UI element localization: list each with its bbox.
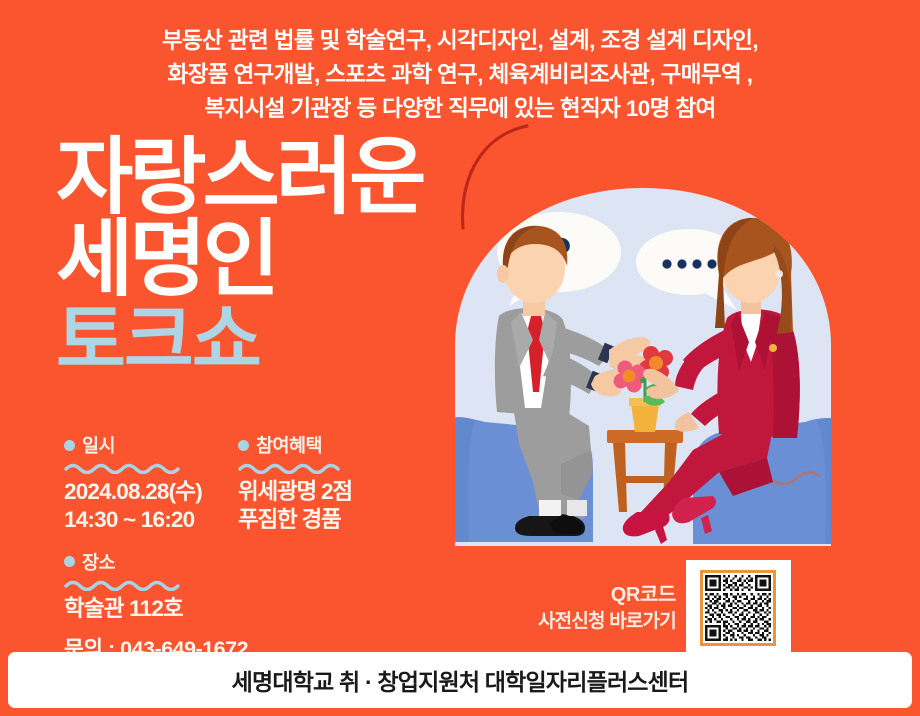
place-value: 학술관 112호 [64,595,239,623]
header-description: 부동산 관련 법률 및 학술연구, 시각디자인, 설계, 조경 설계 디자인, … [0,24,920,127]
footer-bar: 세명대학교 취 · 창업지원처 대학일자리플러스센터 [8,652,912,708]
benefit-label: 참여혜택 [256,432,322,458]
flower-pink [614,361,646,393]
info-group-benefit: 참여혜택 위세광명 2점 푸짐한 경품 [238,432,403,535]
qr-block[interactable]: QR코드 사전신청 바로가기 [538,560,791,656]
benefit-value-1: 위세광명 2점 [238,478,403,506]
qr-card[interactable] [686,560,791,656]
wavy-underline-icon [238,461,348,474]
bullet-dot-icon [238,440,249,451]
datetime-time: 14:30 ~ 16:20 [64,506,239,534]
qr-caption-line-1: QR코드 [538,582,676,609]
datetime-label: 일시 [82,432,115,458]
page-title: 자랑스러운 세명인 토크쇼 [56,138,422,377]
info-column-right: 참여혜택 위세광명 2점 푸짐한 경품 [238,432,403,535]
wavy-underline-icon [64,461,188,474]
benefit-value-2: 푸짐한 경품 [238,506,403,534]
bullet-dot-icon [64,556,75,567]
footer-text: 세명대학교 취 · 창업지원처 대학일자리플러스센터 [232,663,689,697]
qr-caption-line-2: 사전신청 바로가기 [538,609,676,634]
qr-caption: QR코드 사전신청 바로가기 [538,582,676,634]
header-line-2: 화장품 연구개발, 스포츠 과학 연구, 체육계비리조사관, 구매무역 , [0,58,920,92]
info-group-place: 장소 학술관 112호 [64,549,239,623]
header-line-1: 부동산 관련 법률 및 학술연구, 시각디자인, 설계, 조경 설계 디자인, [0,24,920,58]
datetime-date: 2024.08.28(수) [64,478,239,506]
red-arc-decoration [455,120,565,230]
place-label: 장소 [82,549,115,575]
info-group-datetime: 일시 2024.08.28(수) 14:30 ~ 16:20 [64,432,239,535]
title-line-2: 세명인 [56,220,422,298]
title-line-1: 자랑스러운 [56,138,422,216]
wavy-underline-icon [64,578,188,591]
poster-root: 부동산 관련 법률 및 학술연구, 시각디자인, 설계, 조경 설계 디자인, … [0,0,920,716]
info-column-left: 일시 2024.08.28(수) 14:30 ~ 16:20 장소 학술관 11… [64,432,239,623]
title-line-3: 토크쇼 [56,306,422,377]
qr-code-icon[interactable] [700,570,776,646]
talkshow-illustration: ? [393,182,893,582]
bullet-dot-icon [64,440,75,451]
